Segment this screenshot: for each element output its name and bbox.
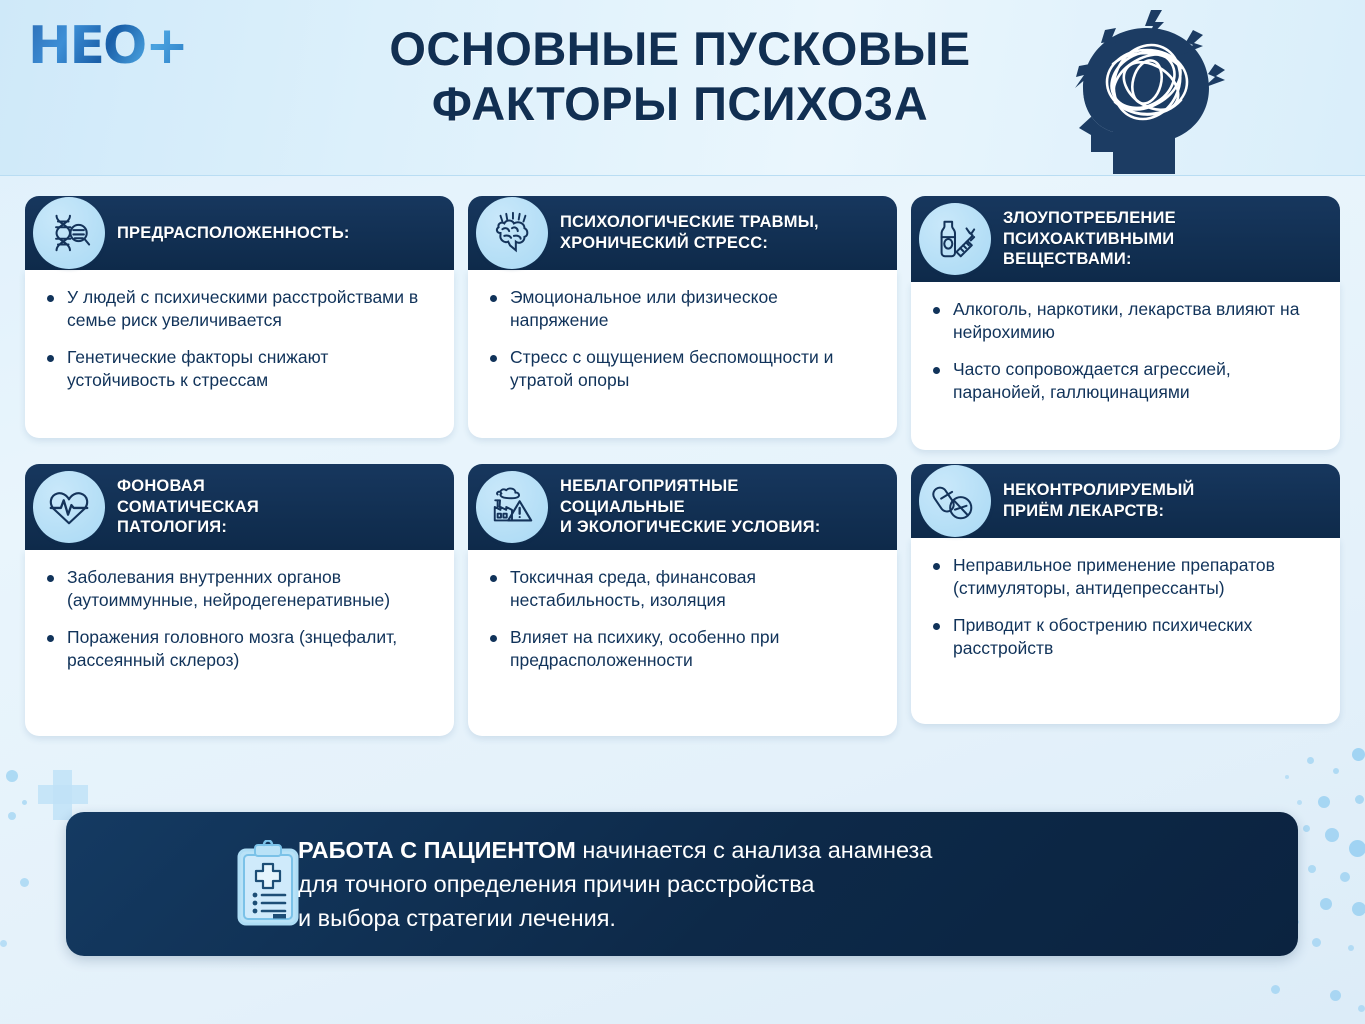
heart-pulse-icon: [33, 471, 105, 543]
card-body: Эмоциональное или физическое напряжение …: [468, 270, 897, 438]
factor-card: НЕКОНТРОЛИРУЕМЫЙ ПРИЁМ ЛЕКАРСТВ: Неправи…: [911, 464, 1340, 736]
brand-logo: НЕО+: [28, 20, 187, 72]
list-item: Приводит к обострению психических расстр…: [929, 614, 1322, 661]
card-header: НЕБЛАГОПРИЯТНЫЕ СОЦИАЛЬНЫЕ И ЭКОЛОГИЧЕСК…: [468, 464, 897, 550]
list-item: Влияет на психику, особенно при предрасп…: [486, 626, 879, 673]
stressed-brain-icon: [476, 197, 548, 269]
card-bullet-list: Заболевания внутренних органов (аутоимму…: [43, 566, 436, 672]
dna-magnifier-icon: [33, 197, 105, 269]
head-with-tangled-thoughts-icon: [1043, 2, 1273, 174]
card-body: Заболевания внутренних органов (аутоимму…: [25, 550, 454, 736]
card-title: ФОНОВАЯ СОМАТИЧЕСКАЯ ПАТОЛОГИЯ:: [117, 476, 259, 538]
list-item: Токсичная среда, финансовая нестабильнос…: [486, 566, 879, 613]
bottle-syringe-icon: [919, 203, 991, 275]
list-item: Заболевания внутренних органов (аутоимму…: [43, 566, 436, 613]
card-header: ПРЕДРАСПОЛОЖЕННОСТЬ:: [25, 196, 454, 270]
clipboard-medical-icon: [234, 840, 302, 928]
pills-icon: [919, 465, 991, 537]
list-item: Часто сопровождается агрессией, паранойе…: [929, 358, 1322, 405]
card-bullet-list: Неправильное применение препаратов (стим…: [929, 554, 1322, 660]
list-item: Генетические факторы снижают устойчивост…: [43, 346, 436, 393]
card-bullet-list: Эмоциональное или физическое напряжение …: [486, 286, 879, 392]
page-header: НЕО+ ОСНОВНЫЕ ПУСКОВЫЕ ФАКТОРЫ ПСИХОЗА: [0, 0, 1365, 176]
card-body: Токсичная среда, финансовая нестабильнос…: [468, 550, 897, 736]
card-header: НЕКОНТРОЛИРУЕМЫЙ ПРИЁМ ЛЕКАРСТВ:: [911, 464, 1340, 538]
list-item: Поражения головного мозга (знцефалит, ра…: [43, 626, 436, 673]
factor-card: ПСИХОЛОГИЧЕСКИЕ ТРАВМЫ, ХРОНИЧЕСКИЙ СТРЕ…: [468, 196, 897, 450]
list-item: Эмоциональное или физическое напряжение: [486, 286, 879, 333]
footer-lead: РАБОТА С ПАЦИЕНТОМ: [298, 837, 576, 863]
list-item: Алкоголь, наркотики, лекарства влияют на…: [929, 298, 1322, 345]
card-title: ЗЛОУПОТРЕБЛЕНИЕ ПСИХОАКТИВНЫМИ ВЕЩЕСТВАМ…: [1003, 208, 1176, 270]
list-item: Неправильное применение препаратов (стим…: [929, 554, 1322, 601]
list-item: Стресс с ощущением беспомощности и утрат…: [486, 346, 879, 393]
footer-banner: РАБОТА С ПАЦИЕНТОМ начинается с анализа …: [66, 812, 1298, 956]
card-header: ФОНОВАЯ СОМАТИЧЕСКАЯ ПАТОЛОГИЯ:: [25, 464, 454, 550]
page-title: ОСНОВНЫЕ ПУСКОВЫЕ ФАКТОРЫ ПСИХОЗА: [330, 22, 1030, 131]
card-title: ПСИХОЛОГИЧЕСКИЕ ТРАВМЫ, ХРОНИЧЕСКИЙ СТРЕ…: [560, 212, 819, 254]
card-body: У людей с психическими расстройствами в …: [25, 270, 454, 438]
factor-card: НЕБЛАГОПРИЯТНЫЕ СОЦИАЛЬНЫЕ И ЭКОЛОГИЧЕСК…: [468, 464, 897, 736]
card-bullet-list: Алкоголь, наркотики, лекарства влияют на…: [929, 298, 1322, 404]
card-title: НЕКОНТРОЛИРУЕМЫЙ ПРИЁМ ЛЕКАРСТВ:: [1003, 480, 1194, 522]
infographic-page: НЕО+ ОСНОВНЫЕ ПУСКОВЫЕ ФАКТОРЫ ПСИХОЗА: [0, 0, 1365, 1024]
card-title: НЕБЛАГОПРИЯТНЫЕ СОЦИАЛЬНЫЕ И ЭКОЛОГИЧЕСК…: [560, 476, 820, 538]
factor-cards-grid: ПРЕДРАСПОЛОЖЕННОСТЬ: У людей с психическ…: [25, 196, 1340, 736]
card-header: ПСИХОЛОГИЧЕСКИЕ ТРАВМЫ, ХРОНИЧЕСКИЙ СТРЕ…: [468, 196, 897, 270]
factor-card: ЗЛОУПОТРЕБЛЕНИЕ ПСИХОАКТИВНЫМИ ВЕЩЕСТВАМ…: [911, 196, 1340, 450]
factor-card: ФОНОВАЯ СОМАТИЧЕСКАЯ ПАТОЛОГИЯ: Заболева…: [25, 464, 454, 736]
factory-warning-icon: [476, 471, 548, 543]
factor-card: ПРЕДРАСПОЛОЖЕННОСТЬ: У людей с психическ…: [25, 196, 454, 450]
list-item: У людей с психическими расстройствами в …: [43, 286, 436, 333]
card-body: Алкоголь, наркотики, лекарства влияют на…: [911, 282, 1340, 450]
card-body: Неправильное применение препаратов (стим…: [911, 538, 1340, 724]
card-bullet-list: У людей с психическими расстройствами в …: [43, 286, 436, 392]
card-header: ЗЛОУПОТРЕБЛЕНИЕ ПСИХОАКТИВНЫМИ ВЕЩЕСТВАМ…: [911, 196, 1340, 282]
card-bullet-list: Токсичная среда, финансовая нестабильнос…: [486, 566, 879, 672]
card-title: ПРЕДРАСПОЛОЖЕННОСТЬ:: [117, 223, 350, 244]
